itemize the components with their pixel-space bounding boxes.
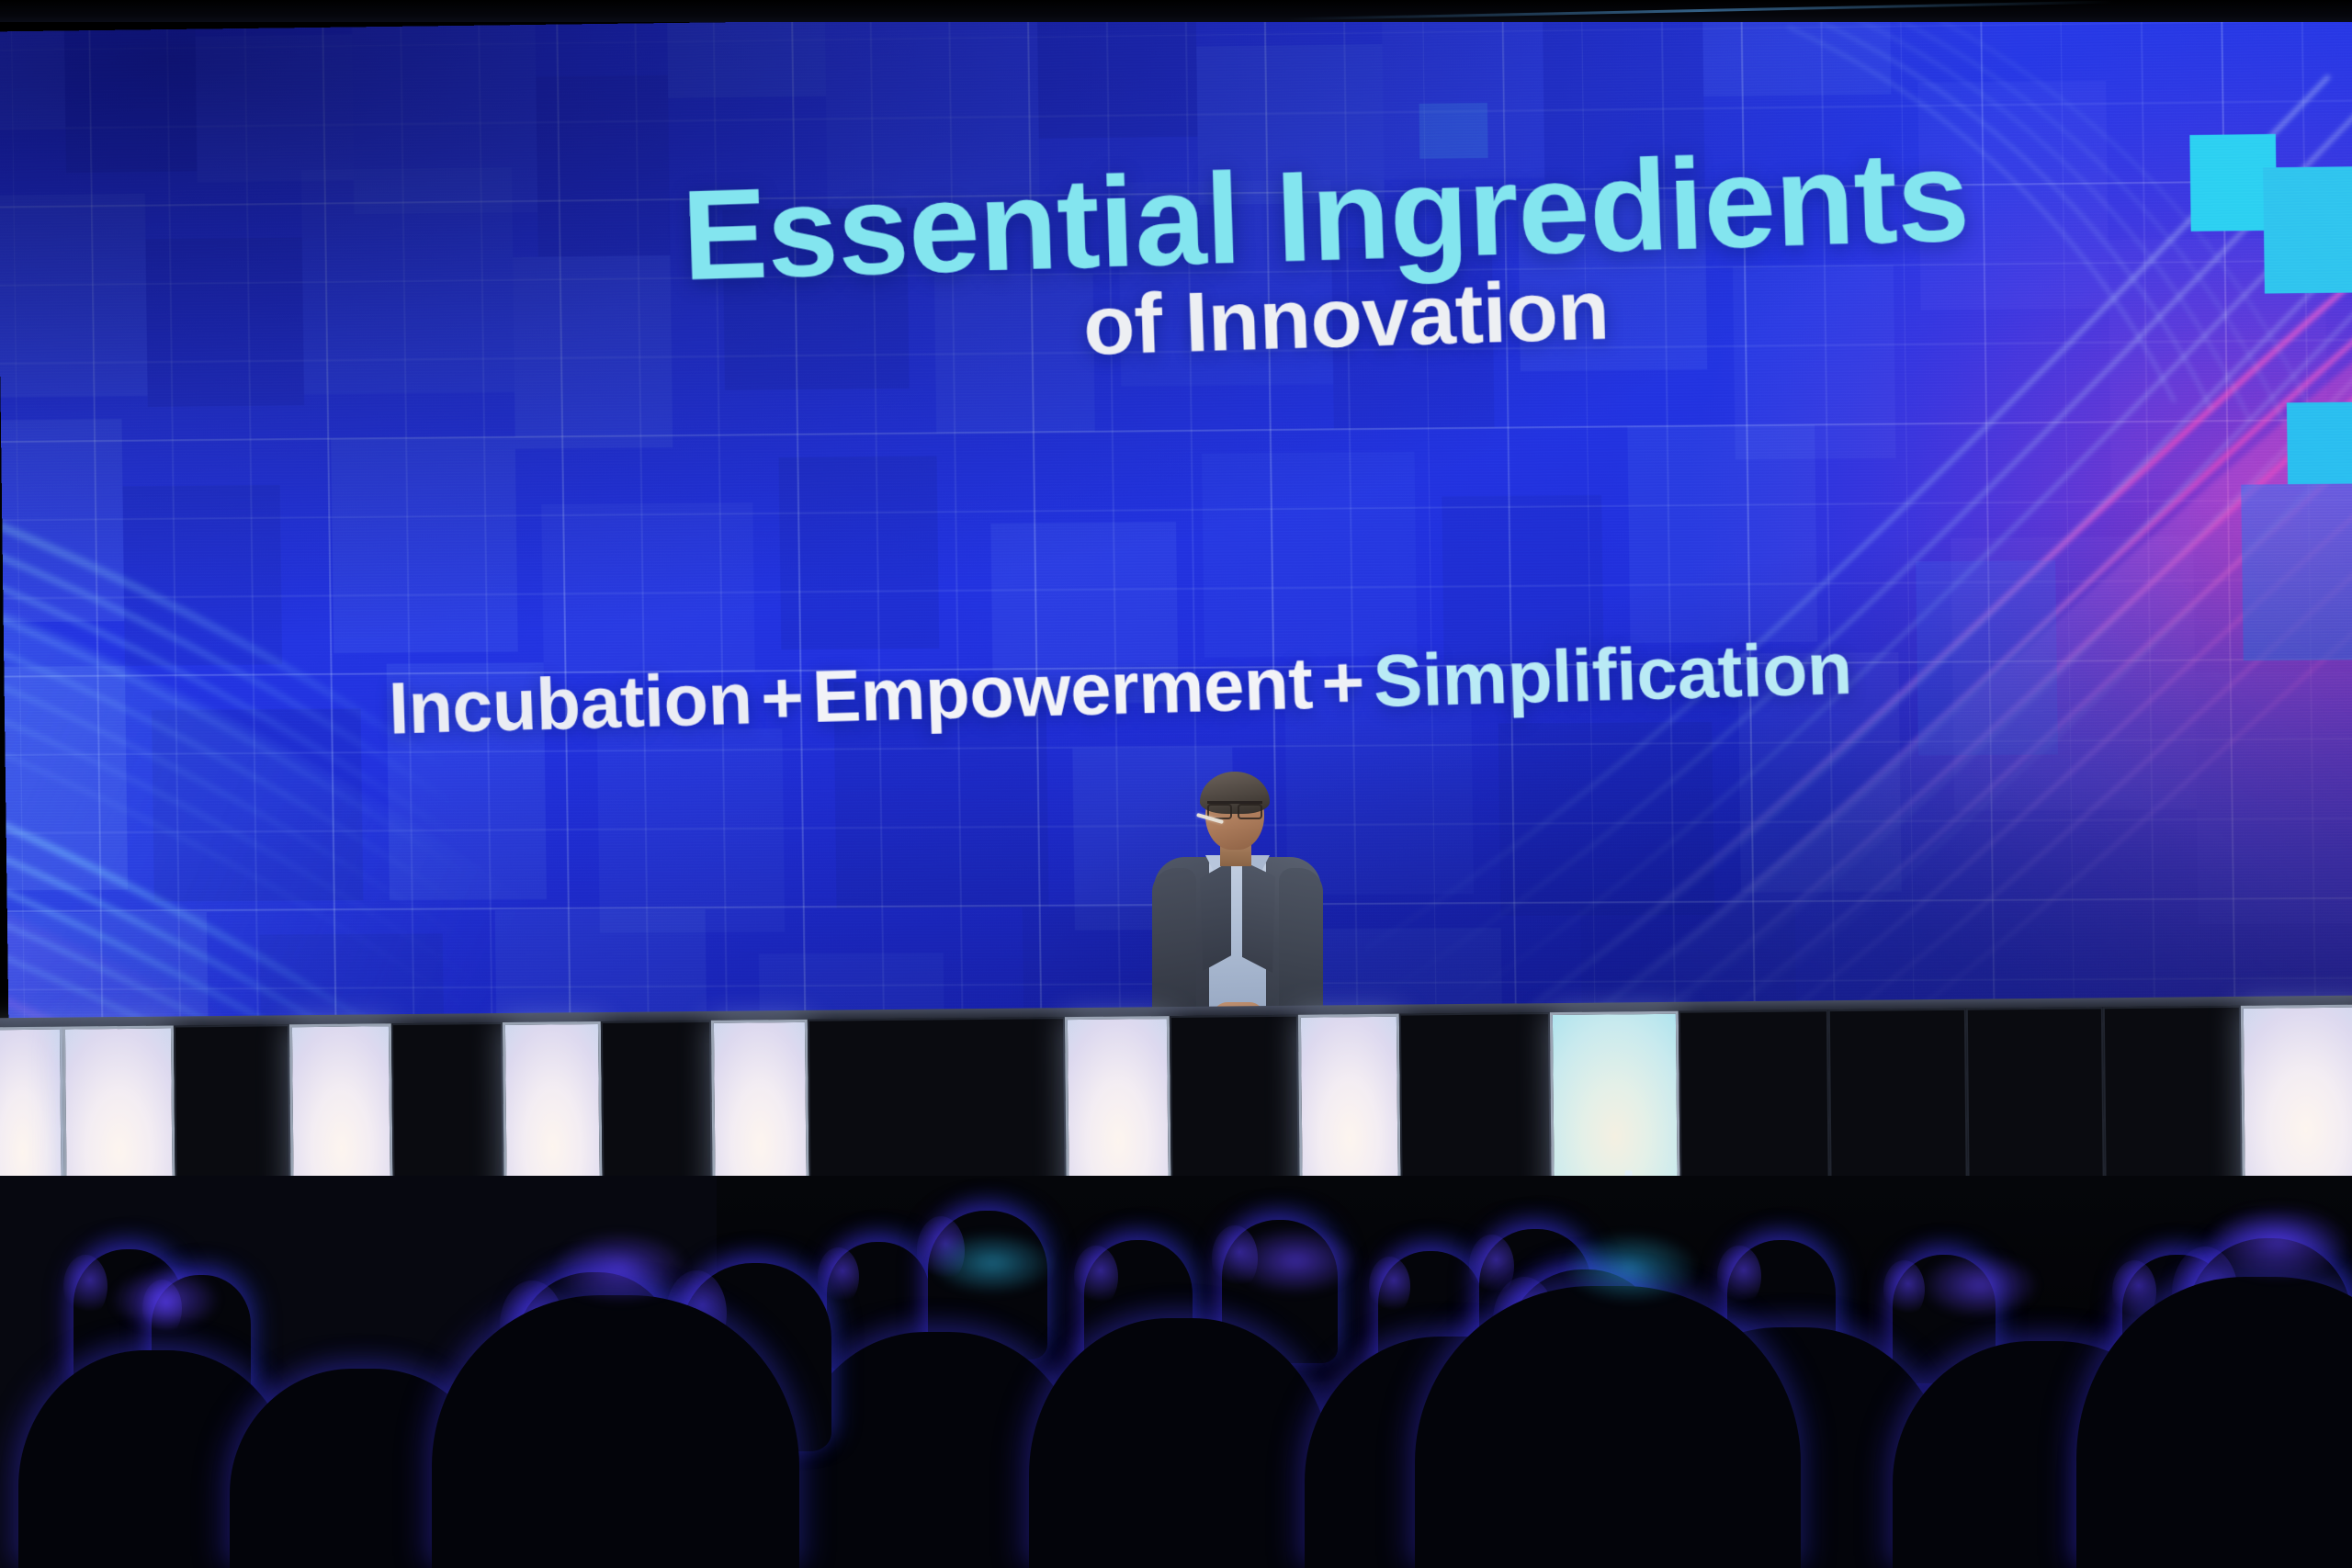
audience-rim-light bbox=[110, 1268, 220, 1332]
speaker-lapel-right bbox=[1242, 861, 1275, 973]
audience-rim-light bbox=[551, 1231, 689, 1304]
formula-term-empowerment: Empowerment bbox=[811, 642, 1314, 738]
eyeglasses-icon bbox=[1207, 801, 1262, 813]
audience-rim-light bbox=[1920, 1252, 2040, 1318]
formula-operator-2: + bbox=[1311, 640, 1374, 724]
audience-rim-light bbox=[1231, 1226, 1360, 1295]
audience-rim-light bbox=[1562, 1231, 1700, 1304]
speaker-lapel-left bbox=[1200, 861, 1231, 971]
slide-headline-sub: of Innovation bbox=[1082, 267, 1611, 367]
formula-term-incubation: Incubation bbox=[388, 658, 753, 749]
formula-operator-1: + bbox=[751, 656, 814, 739]
slide-formula-line: Incubation+Empowerment+Simplification bbox=[388, 632, 1853, 746]
audience-rim-light bbox=[2205, 1203, 2352, 1281]
formula-term-simplification: Simplification bbox=[1372, 627, 1853, 723]
audience-rim-light bbox=[928, 1231, 1057, 1295]
audience-silhouettes bbox=[0, 1176, 2352, 1568]
keynote-stage-scene: Essential Ingredients of Innovation Incu… bbox=[0, 0, 2352, 1568]
